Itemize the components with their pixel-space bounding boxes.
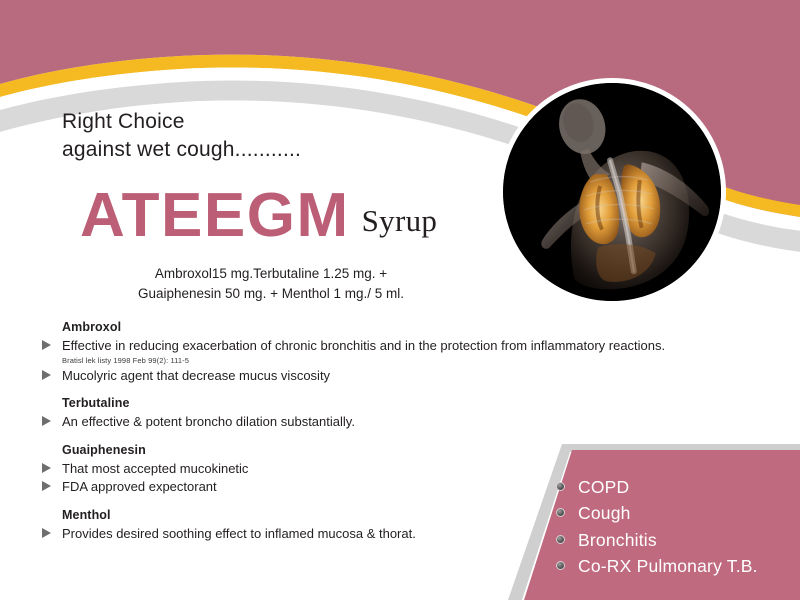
bullet-arrow-icon xyxy=(42,340,51,350)
ingredient-claim: An effective & potent broncho dilation s… xyxy=(40,413,690,431)
ingredient-claim-text: Mucolyric agent that decrease mucus visc… xyxy=(62,368,330,383)
indications-list: COPDCoughBronchitisCo-RX Pulmonary T.B. xyxy=(520,448,800,600)
ingredient-claim-text: An effective & potent broncho dilation s… xyxy=(62,414,355,429)
tagline: Right Choice against wet cough..........… xyxy=(62,108,301,163)
composition-line-1: Ambroxol15 mg.Terbutaline 1.25 mg. + xyxy=(96,264,446,284)
bullet-arrow-icon xyxy=(42,528,51,538)
ingredient-claim-text: Provides desired soothing effect to infl… xyxy=(62,526,416,541)
bullet-dot-icon xyxy=(556,508,565,517)
composition: Ambroxol15 mg.Terbutaline 1.25 mg. + Gua… xyxy=(96,264,446,305)
dosage-form: Syrup xyxy=(362,203,438,239)
torso-lungs-xray-icon xyxy=(503,83,721,301)
ingredient-claim-text: FDA approved expectorant xyxy=(62,479,217,494)
bullet-arrow-icon xyxy=(42,481,51,491)
ingredient-title: Terbutaline xyxy=(62,396,690,410)
anatomy-illustration xyxy=(503,83,721,301)
tagline-line-1: Right Choice xyxy=(62,108,301,136)
composition-line-2: Guaiphenesin 50 mg. + Menthol 1 mg./ 5 m… xyxy=(96,284,446,304)
ingredient-claim-text: Effective in reducing exacerbation of ch… xyxy=(62,338,665,353)
indication-item: Cough xyxy=(556,500,800,526)
ingredient-claim: Effective in reducing exacerbation of ch… xyxy=(40,337,690,355)
brand-lockup: ATEEGM Syrup xyxy=(80,186,437,246)
tagline-line-2: against wet cough........... xyxy=(62,136,301,164)
indication-label: Co-RX Pulmonary T.B. xyxy=(578,556,758,576)
indication-item: Bronchitis xyxy=(556,527,800,553)
bullet-dot-icon xyxy=(556,535,565,544)
indication-label: COPD xyxy=(578,477,629,497)
ingredient-title: Ambroxol xyxy=(62,320,690,334)
bullet-dot-icon xyxy=(556,561,565,570)
brand-name: ATEEGM xyxy=(80,186,350,246)
bullet-arrow-icon xyxy=(42,463,51,473)
ingredient-block: AmbroxolEffective in reducing exacerbati… xyxy=(40,320,690,385)
ingredient-claim-text: That most accepted mucokinetic xyxy=(62,461,248,476)
ingredient-citation: Bratisl lek listy 1998 Feb 99(2): 111-5 xyxy=(62,355,690,366)
bullet-arrow-icon xyxy=(42,370,51,380)
indication-label: Bronchitis xyxy=(578,530,657,550)
ingredient-block: TerbutalineAn effective & potent broncho… xyxy=(40,396,690,431)
bullet-dot-icon xyxy=(556,482,565,491)
indication-item: COPD xyxy=(556,474,800,500)
indication-item: Co-RX Pulmonary T.B. xyxy=(556,553,800,579)
anatomy-image-circle xyxy=(498,78,726,306)
indication-label: Cough xyxy=(578,503,631,523)
ingredient-claim: Mucolyric agent that decrease mucus visc… xyxy=(40,367,690,385)
advertisement-poster: Right Choice against wet cough..........… xyxy=(0,0,800,600)
bullet-arrow-icon xyxy=(42,416,51,426)
